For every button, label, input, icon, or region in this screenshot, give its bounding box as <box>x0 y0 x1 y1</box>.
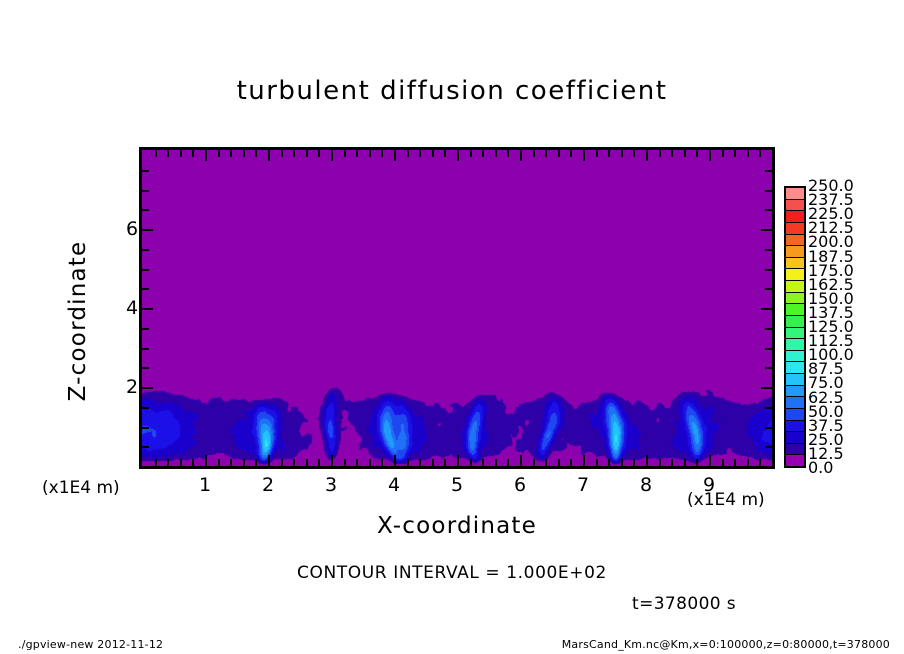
axis-tick <box>646 150 648 161</box>
axis-tick <box>633 150 635 157</box>
axis-tick <box>558 459 560 466</box>
axis-tick <box>696 459 698 466</box>
axis-tick <box>608 459 610 466</box>
axis-tick <box>570 459 572 466</box>
axis-tick <box>659 150 661 157</box>
axis-tick <box>722 459 724 466</box>
axis-tick <box>765 328 772 330</box>
axis-tick <box>142 229 153 231</box>
axis-tick <box>142 249 149 251</box>
axis-tick <box>230 150 232 157</box>
axis-tick <box>142 427 149 429</box>
axis-tick <box>765 269 772 271</box>
scalar-field-canvas <box>142 150 772 466</box>
axis-tick <box>533 150 535 157</box>
colorbar-band <box>786 386 804 398</box>
x-tick-label: 8 <box>640 474 652 496</box>
axis-tick <box>243 459 245 466</box>
axis-tick <box>281 150 283 157</box>
axis-tick <box>709 150 711 161</box>
axis-tick <box>394 455 396 466</box>
axis-tick <box>765 288 772 290</box>
axis-tick <box>444 459 446 466</box>
x-unit-label-left: (x1E4 m) <box>42 478 120 498</box>
axis-tick <box>765 348 772 350</box>
axis-tick <box>180 459 182 466</box>
axis-tick <box>621 150 623 157</box>
axis-tick <box>608 150 610 157</box>
axis-tick <box>218 459 220 466</box>
axis-tick <box>621 459 623 466</box>
axis-tick <box>306 150 308 157</box>
axis-tick <box>761 229 772 231</box>
colorbar-band <box>786 304 804 316</box>
axis-tick <box>268 150 270 161</box>
axis-tick <box>596 459 598 466</box>
axis-tick <box>318 150 320 157</box>
colorbar-band <box>786 269 804 281</box>
axis-tick <box>495 459 497 466</box>
axis-tick <box>659 459 661 466</box>
axis-tick <box>761 308 772 310</box>
colorbar-band <box>786 246 804 258</box>
axis-tick <box>331 150 333 161</box>
axis-tick <box>142 328 149 330</box>
axis-tick <box>765 427 772 429</box>
colorbar-band <box>786 432 804 444</box>
axis-tick <box>520 455 522 466</box>
axis-tick <box>684 150 686 157</box>
colorbar-band <box>786 455 804 466</box>
x-tick-label: 5 <box>451 474 463 496</box>
axis-tick <box>761 387 772 389</box>
axis-tick <box>709 455 711 466</box>
axis-tick <box>507 459 509 466</box>
axis-tick <box>596 150 598 157</box>
axis-tick <box>583 150 585 161</box>
axis-tick <box>142 407 149 409</box>
axis-tick <box>205 455 207 466</box>
axis-tick <box>734 150 736 157</box>
axis-tick <box>570 150 572 157</box>
axis-tick <box>583 455 585 466</box>
colorbar-band <box>786 316 804 328</box>
axis-tick <box>142 269 149 271</box>
x-axis-title: X-coordinate <box>139 513 775 539</box>
axis-tick <box>192 459 194 466</box>
colorbar-gradient <box>784 186 806 468</box>
axis-tick <box>142 288 149 290</box>
axis-tick <box>381 150 383 157</box>
axis-tick <box>255 150 257 157</box>
axis-tick <box>230 459 232 466</box>
colorbar-band <box>786 339 804 351</box>
colorbar-band <box>786 235 804 247</box>
colorbar-band <box>786 397 804 409</box>
axis-tick <box>356 150 358 157</box>
axis-tick <box>759 459 761 466</box>
axis-tick <box>344 150 346 157</box>
colorbar: 250.0237.5225.0212.5200.0187.5175.0162.5… <box>784 186 806 468</box>
colorbar-band <box>786 188 804 200</box>
axis-tick <box>747 150 749 157</box>
axis-tick <box>432 150 434 157</box>
axis-tick <box>457 150 459 161</box>
axis-tick <box>765 190 772 192</box>
axis-tick <box>765 249 772 251</box>
axis-tick <box>444 150 446 157</box>
axis-tick <box>482 150 484 157</box>
axis-tick <box>281 459 283 466</box>
axis-tick <box>356 459 358 466</box>
x-tick-label: 6 <box>514 474 526 496</box>
axis-tick <box>633 459 635 466</box>
axis-tick <box>470 459 472 466</box>
axis-tick <box>457 455 459 466</box>
axis-tick <box>268 455 270 466</box>
colorbar-band <box>786 444 804 456</box>
colorbar-label: 0.0 <box>808 460 833 476</box>
axis-tick <box>142 446 149 448</box>
axis-tick <box>155 150 157 157</box>
axis-tick <box>180 150 182 157</box>
colorbar-band <box>786 281 804 293</box>
x-tick-label: 7 <box>577 474 589 496</box>
axis-tick <box>765 170 772 172</box>
y-axis-title: Z-coordinate <box>65 221 91 421</box>
axis-tick <box>142 348 149 350</box>
axis-tick <box>167 459 169 466</box>
y-tick-label: 4 <box>126 297 138 319</box>
axis-tick <box>520 150 522 161</box>
axis-tick <box>671 150 673 157</box>
axis-tick <box>142 209 149 211</box>
axis-tick <box>765 367 772 369</box>
timestamp-label: t=378000 s <box>632 594 736 614</box>
x-tick-label: 4 <box>388 474 400 496</box>
axis-tick <box>218 150 220 157</box>
x-tick-label: 2 <box>262 474 274 496</box>
axis-tick <box>765 209 772 211</box>
y-tick-label: 2 <box>126 376 138 398</box>
axis-tick <box>722 150 724 157</box>
axis-tick <box>142 367 149 369</box>
axis-tick <box>243 150 245 157</box>
axis-tick <box>419 150 421 157</box>
axis-tick <box>470 150 472 157</box>
footer-command-label: ./gpview-new 2012-11-12 <box>18 638 163 651</box>
colorbar-band <box>786 293 804 305</box>
gpview-plot-window: turbulent diffusion coefficient 12345678… <box>0 0 904 654</box>
axis-tick <box>558 150 560 157</box>
axis-tick <box>293 459 295 466</box>
colorbar-band <box>786 374 804 386</box>
axis-tick <box>205 150 207 161</box>
page-title: turbulent diffusion coefficient <box>0 76 904 106</box>
axis-tick <box>671 459 673 466</box>
axis-tick <box>765 446 772 448</box>
axis-tick <box>495 150 497 157</box>
colorbar-band <box>786 362 804 374</box>
axis-tick <box>545 150 547 157</box>
axis-tick <box>293 150 295 157</box>
contour-interval-label: CONTOUR INTERVAL = 1.000E+02 <box>0 563 904 583</box>
x-tick-label: 1 <box>199 474 211 496</box>
colorbar-band <box>786 328 804 340</box>
axis-tick <box>142 190 149 192</box>
axis-tick <box>533 459 535 466</box>
axis-tick <box>432 459 434 466</box>
axis-tick <box>419 459 421 466</box>
y-tick-label: 6 <box>126 218 138 240</box>
contour-plot-area <box>139 147 775 469</box>
axis-tick <box>482 459 484 466</box>
colorbar-band <box>786 200 804 212</box>
axis-tick <box>381 459 383 466</box>
axis-tick <box>684 459 686 466</box>
colorbar-band <box>786 421 804 433</box>
axis-tick <box>765 407 772 409</box>
axis-tick <box>142 308 153 310</box>
axis-tick <box>142 170 149 172</box>
axis-tick <box>734 459 736 466</box>
axis-tick <box>369 150 371 157</box>
axis-tick <box>167 150 169 157</box>
x-tick-label: 3 <box>325 474 337 496</box>
colorbar-band <box>786 351 804 363</box>
axis-tick <box>142 387 153 389</box>
axis-tick <box>646 455 648 466</box>
colorbar-tick-labels: 250.0237.5225.0212.5200.0187.5175.0162.5… <box>808 186 878 468</box>
x-unit-label-right: (x1E4 m) <box>687 490 765 510</box>
axis-tick <box>192 150 194 157</box>
axis-tick <box>759 150 761 157</box>
footer-source-label: MarsCand_Km.nc@Km,x=0:100000,z=0:80000,t… <box>562 638 890 651</box>
axis-tick <box>507 150 509 157</box>
colorbar-band <box>786 211 804 223</box>
axis-tick <box>696 150 698 157</box>
axis-tick <box>407 459 409 466</box>
axis-tick <box>394 150 396 161</box>
colorbar-band <box>786 409 804 421</box>
axis-tick <box>407 150 409 157</box>
axis-tick <box>747 459 749 466</box>
axis-tick <box>255 459 257 466</box>
colorbar-band <box>786 223 804 235</box>
axis-tick <box>344 459 346 466</box>
colorbar-band <box>786 258 804 270</box>
axis-tick <box>331 455 333 466</box>
axis-tick <box>318 459 320 466</box>
axis-tick <box>545 459 547 466</box>
axis-tick <box>155 459 157 466</box>
axis-tick <box>306 459 308 466</box>
axis-tick <box>369 459 371 466</box>
